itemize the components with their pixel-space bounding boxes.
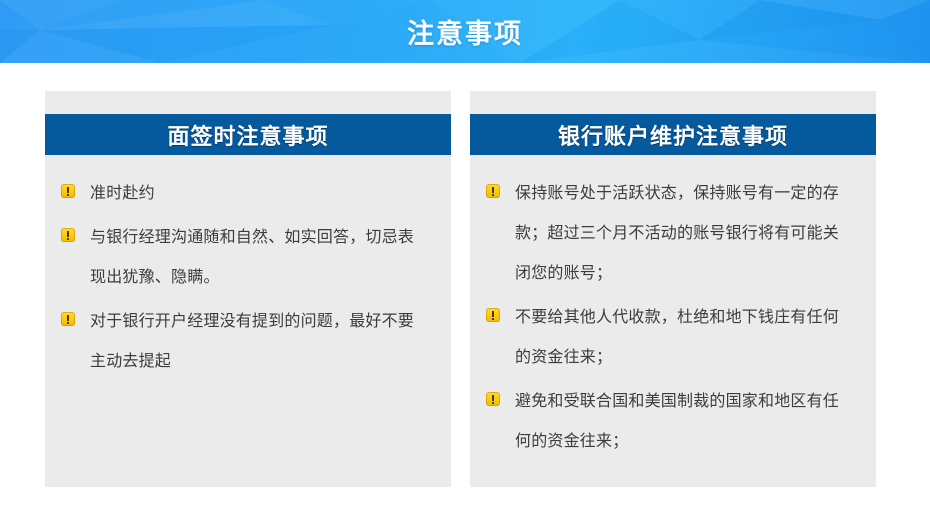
notice-card-account-maintenance: 银行账户维护注意事项 保持账号处于活跃状态，保持账号有一定的存款；超过三个月不活… <box>470 91 876 487</box>
card-title-interview: 面签时注意事项 <box>45 114 451 155</box>
list-item: 准时赴约 <box>61 173 429 213</box>
list-item: 避免和受联合国和美国制裁的国家和地区有任何的资金往来； <box>486 381 854 461</box>
notice-card-interview: 面签时注意事项 准时赴约 与银行经理沟通随和自然、如实回答，切忌表现出犹豫、隐瞒… <box>45 91 451 487</box>
warning-icon <box>61 312 75 326</box>
card-body-interview: 准时赴约 与银行经理沟通随和自然、如实回答，切忌表现出犹豫、隐瞒。 对于银行开户… <box>45 155 451 487</box>
list-item: 对于银行开户经理没有提到的问题，最好不要主动去提起 <box>61 301 429 381</box>
warning-icon <box>486 392 500 406</box>
page-title: 注意事项 <box>0 0 930 63</box>
warning-icon <box>61 228 75 242</box>
card-top-spacer <box>45 91 451 114</box>
list-item: 保持账号处于活跃状态，保持账号有一定的存款；超过三个月不活动的账号银行将有可能关… <box>486 173 854 293</box>
notices-board: 面签时注意事项 准时赴约 与银行经理沟通随和自然、如实回答，切忌表现出犹豫、隐瞒… <box>0 63 930 527</box>
list-item-text: 准时赴约 <box>90 173 429 213</box>
list-item-text: 不要给其他人代收款，杜绝和地下钱庄有任何的资金往来； <box>515 297 854 377</box>
list-item-text: 保持账号处于活跃状态，保持账号有一定的存款；超过三个月不活动的账号银行将有可能关… <box>515 173 854 293</box>
list-item-text: 对于银行开户经理没有提到的问题，最好不要主动去提起 <box>90 301 429 381</box>
card-title-account-maintenance: 银行账户维护注意事项 <box>470 114 876 155</box>
warning-icon <box>486 308 500 322</box>
card-top-spacer <box>470 91 876 114</box>
card-body-account-maintenance: 保持账号处于活跃状态，保持账号有一定的存款；超过三个月不活动的账号银行将有可能关… <box>470 155 876 487</box>
list-item: 与银行经理沟通随和自然、如实回答，切忌表现出犹豫、隐瞒。 <box>61 217 429 297</box>
list-item-text: 避免和受联合国和美国制裁的国家和地区有任何的资金往来； <box>515 381 854 461</box>
list-item: 不要给其他人代收款，杜绝和地下钱庄有任何的资金往来； <box>486 297 854 377</box>
notice-card-list: 面签时注意事项 准时赴约 与银行经理沟通随和自然、如实回答，切忌表现出犹豫、隐瞒… <box>45 91 876 487</box>
list-item-text: 与银行经理沟通随和自然、如实回答，切忌表现出犹豫、隐瞒。 <box>90 217 429 297</box>
page-banner: 注意事项 <box>0 0 930 63</box>
warning-icon <box>486 184 500 198</box>
warning-icon <box>61 184 75 198</box>
